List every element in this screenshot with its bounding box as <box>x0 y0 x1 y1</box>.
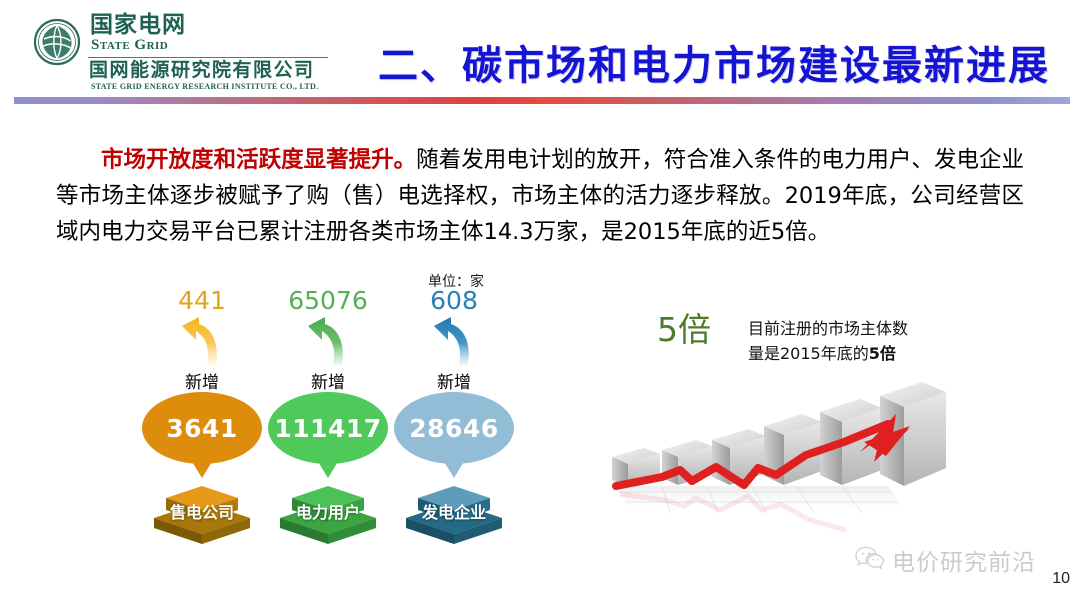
new-added-label: 新增 <box>268 368 388 393</box>
multiplier-headline: 5倍 <box>657 313 711 346</box>
slide-canvas: 国家电网 State Grid 国网能源研究院有限公司 STATE GRID E… <box>0 0 1080 608</box>
growth-bar-chart-illustration <box>592 382 972 547</box>
multiplier-note-line1: 目前注册的市场主体数 <box>748 316 958 341</box>
institute-name-cn: 国网能源研究院有限公司 <box>89 61 315 80</box>
delta-value: 65076 <box>268 288 388 313</box>
curved-up-arrow-orange-icon <box>142 316 262 366</box>
body-paragraph: 市场开放度和活跃度显著提升。随着发用电计划的放开，符合准入条件的电力用户、发电企… <box>56 142 1024 250</box>
pedestal-retailer <box>140 474 264 546</box>
brand-logo-block: 国家电网 State Grid 国网能源研究院有限公司 STATE GRID E… <box>30 10 330 90</box>
logo-divider <box>88 57 328 58</box>
new-added-label: 新增 <box>142 368 262 393</box>
brand-name-en: State Grid <box>91 38 168 53</box>
page-number: 10 <box>1052 570 1070 588</box>
wechat-watermark: 电价研究前沿 <box>855 543 1036 577</box>
watermark-text: 电价研究前沿 <box>892 543 1036 577</box>
paragraph-lead: 市场开放度和活跃度显著提升。 <box>101 147 416 173</box>
bubble-value: 111417 <box>274 414 381 443</box>
bubble-value: 3641 <box>166 414 238 443</box>
curved-up-arrow-blue-icon <box>394 316 514 366</box>
wechat-icon <box>855 546 885 575</box>
pedestal-consumer <box>266 474 390 546</box>
multiplier-note-emphasis: 5倍 <box>869 344 896 363</box>
bubble-retailer: 3641 <box>142 392 262 464</box>
institute-name-en: STATE GRID ENERGY RESEARCH INSTITUTE CO.… <box>91 83 318 91</box>
brand-name-cn: 国家电网 <box>90 14 186 37</box>
curved-up-arrow-green-icon <box>268 316 388 366</box>
bubble-generator: 28646 <box>394 392 514 464</box>
multiplier-note: 目前注册的市场主体数 量是2015年底的5倍 <box>748 316 958 366</box>
delta-value: 441 <box>142 288 262 313</box>
state-grid-logo-icon <box>33 18 81 66</box>
bubble-consumer: 111417 <box>268 392 388 464</box>
page-title: 二、碳市场和电力市场建设最新进展 <box>378 44 1050 88</box>
multiplier-note-line2: 量是2015年底的5倍 <box>748 341 958 366</box>
pedestal-generator <box>392 474 516 546</box>
bar-3 <box>712 429 766 485</box>
delta-value: 608 <box>394 288 514 313</box>
header-divider <box>14 97 1070 104</box>
new-added-label: 新增 <box>394 368 514 393</box>
multiplier-note-line2-text: 量是2015年底的 <box>748 344 869 363</box>
bubble-value: 28646 <box>409 414 498 443</box>
